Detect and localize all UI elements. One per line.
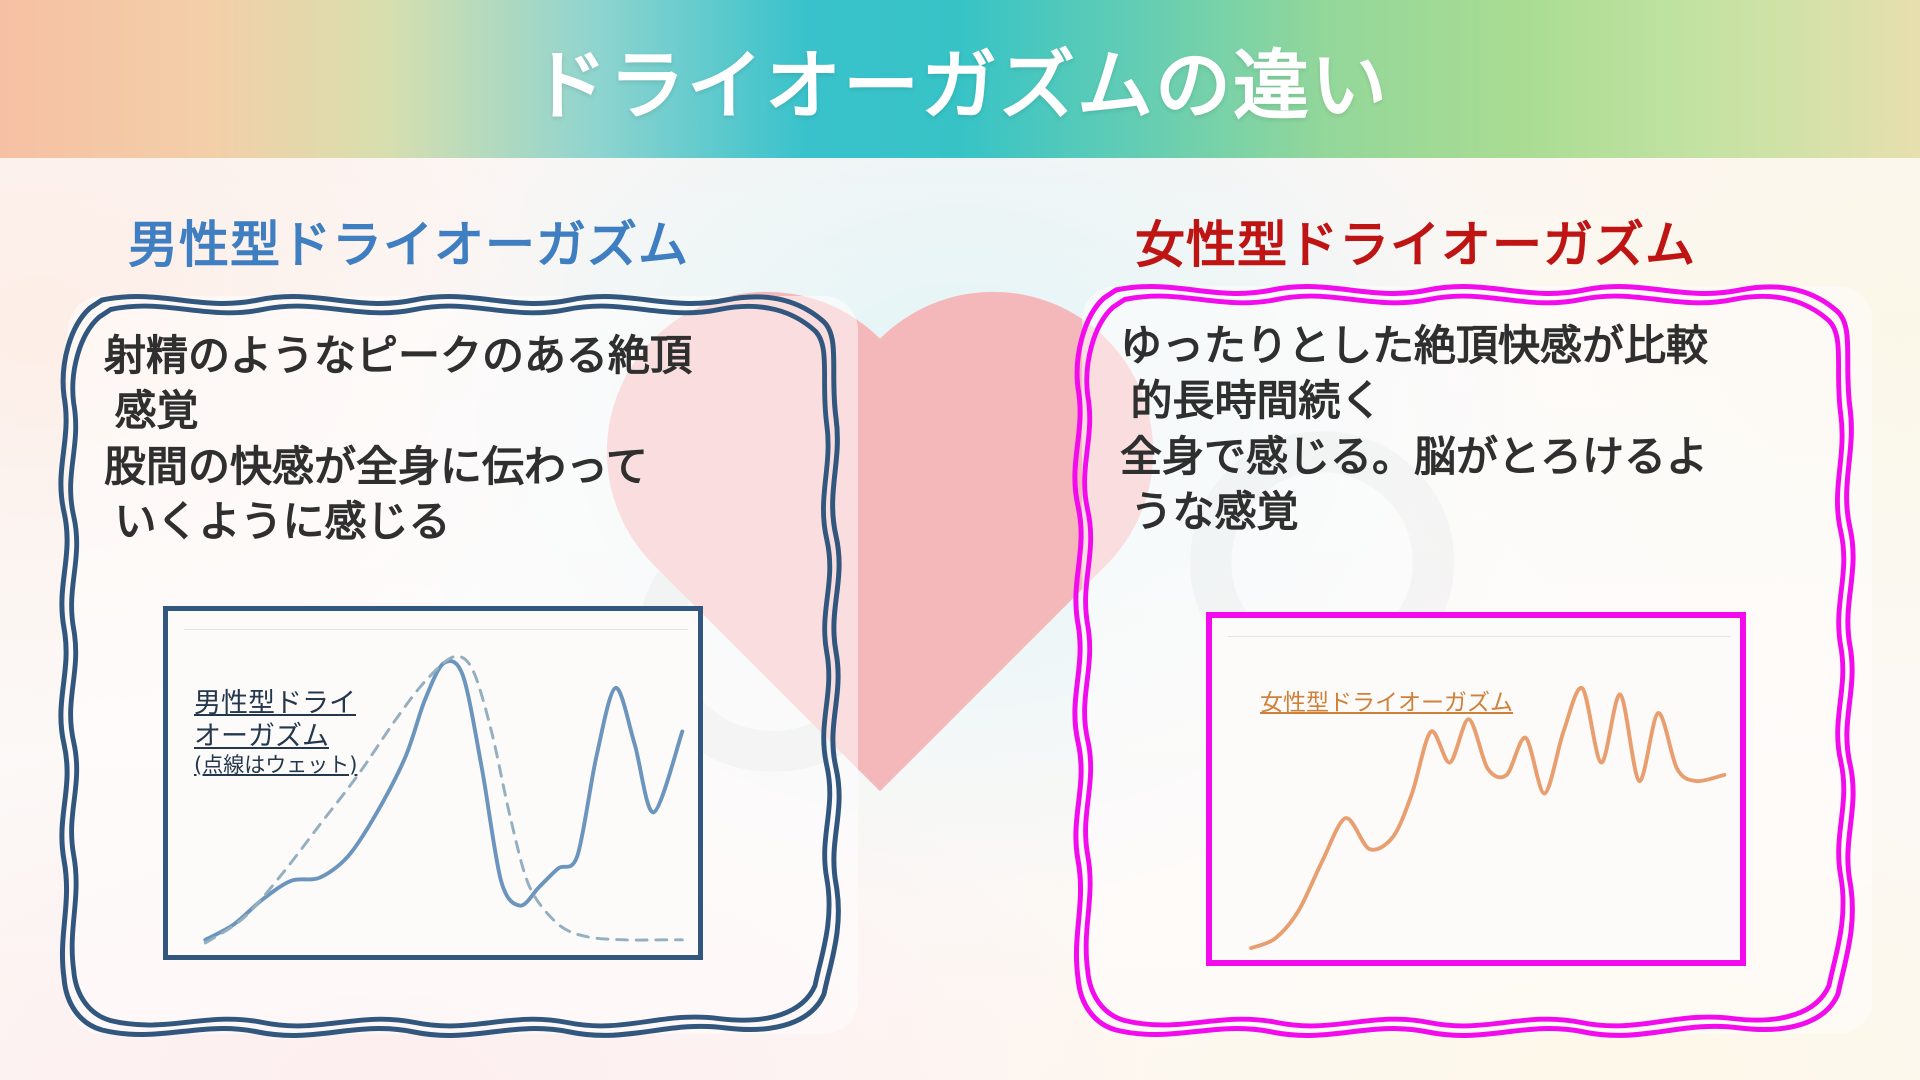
list-item: 射精のようなピークのある絶頂 感覚: [104, 330, 834, 439]
list-item: ゆったりとした絶頂快感が比較 的長時間続く: [1120, 320, 1860, 429]
female-chart-plot: [1212, 618, 1740, 960]
male-chart-inner: 男性型ドライ オーガズム (点線はウェット): [168, 611, 698, 955]
chart-series-solid: [205, 661, 682, 940]
male-bullet-1: 射精のようなピークのある絶頂 感覚: [104, 334, 692, 435]
male-bullet-2: 股間の快感が全身に伝わって いくように感じる: [104, 445, 648, 546]
female-bullet-list: ゆったりとした絶頂快感が比較 的長時間続く 全身で感じる。脳がとろけるよ うな感…: [1120, 320, 1860, 542]
page-title: ドライオーガズムの違い: [0, 0, 1920, 158]
male-section-heading: 男性型ドライオーガズム: [128, 205, 689, 277]
female-bullet-1: ゆったりとした絶頂快感が比較 的長時間続く: [1120, 324, 1708, 425]
male-chart-plot: [168, 611, 698, 955]
female-chart-inner: 女性型ドライオーガズム: [1212, 618, 1740, 960]
female-bullet-2: 全身で感じる。脳がとろけるよ うな感覚: [1120, 435, 1708, 536]
list-item: 全身で感じる。脳がとろけるよ うな感覚: [1120, 431, 1860, 540]
female-section-heading: 女性型ドライオーガズム: [1135, 205, 1696, 277]
female-chart: 女性型ドライオーガズム: [1206, 612, 1746, 966]
male-chart: 男性型ドライ オーガズム (点線はウェット): [163, 606, 703, 960]
list-item: 股間の快感が全身に伝わって いくように感じる: [104, 441, 834, 550]
male-bullet-list: 射精のようなピークのある絶頂 感覚 股間の快感が全身に伝わって いくように感じる: [104, 330, 834, 552]
chart-series-solid: [1251, 688, 1724, 948]
slide-root: ♂ ♀ ドライオーガズムの違い 男性型ドライオーガズム 射精のようなピークのある…: [0, 0, 1920, 1080]
